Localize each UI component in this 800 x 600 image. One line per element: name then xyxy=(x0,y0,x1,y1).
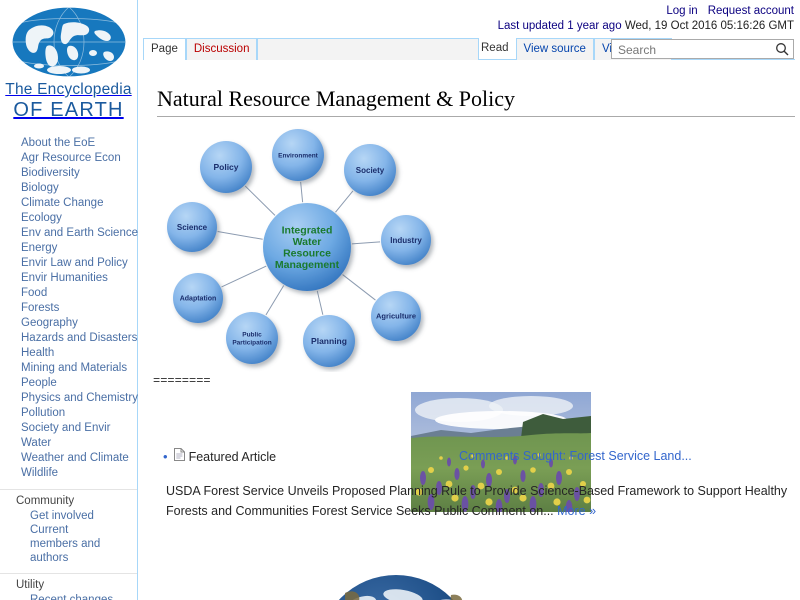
featured-article-description: USDA Forest Service Unveils Proposed Pla… xyxy=(166,481,797,521)
sidebar-item-get-involved[interactable]: Get involved xyxy=(0,509,137,523)
sidebar-topic-list: About the EoEAgr Resource EconBiodiversi… xyxy=(0,136,137,481)
sidebar-nav: About the EoEAgr Resource EconBiodiversi… xyxy=(0,136,137,600)
earth-globe-photo xyxy=(301,575,491,600)
search-icon[interactable] xyxy=(774,42,790,57)
diagram-node-label: Planning xyxy=(311,336,347,346)
diagram-node-environment: Environment xyxy=(272,129,324,181)
sidebar-community-items: Get involvedCurrent members and authors xyxy=(0,509,137,565)
request-account-link[interactable]: Request account xyxy=(708,5,794,17)
last-updated-link[interactable]: Last updated 1 year ago xyxy=(498,20,622,32)
diagram-node-label: Environment xyxy=(278,152,319,159)
tab-page[interactable]: Page xyxy=(143,38,186,60)
featured-article-link[interactable]: Comments Sought: Forest Service Land... xyxy=(459,448,692,464)
sidebar-item-weather-and-climate[interactable]: Weather and Climate xyxy=(0,451,137,466)
diagram-node-label: Agriculture xyxy=(376,312,416,321)
diagram-node-label: Adaptation xyxy=(180,296,217,303)
sidebar-item-people[interactable]: People xyxy=(0,376,137,391)
sidebar-item-biology[interactable]: Biology xyxy=(0,181,137,196)
diagram-edge xyxy=(317,291,323,315)
diagram-center-label: Resource xyxy=(283,248,331,260)
left-panel: The Encyclopedia OF EARTH About the EoEA… xyxy=(0,0,138,600)
diagram-node-society: Society xyxy=(344,144,396,196)
diagram-edge xyxy=(218,231,263,239)
document-icon xyxy=(174,448,185,465)
wiki-page: The Encyclopedia OF EARTH About the EoEA… xyxy=(0,0,800,600)
sidebar-item-wildlife[interactable]: Wildlife xyxy=(0,466,137,481)
sidebar-item-physics-and-chemistry[interactable]: Physics and Chemistry xyxy=(0,391,137,406)
diagram-center-label: Integrated xyxy=(282,225,333,237)
login-link[interactable]: Log in xyxy=(666,5,697,17)
sidebar-section-utility: Utility Recent changesHelp xyxy=(0,573,137,600)
diagram-edge xyxy=(352,242,380,244)
list-bullet: • xyxy=(163,449,168,465)
tab-read[interactable]: Read xyxy=(474,38,516,60)
diagram-node-label: Science xyxy=(177,223,208,232)
site-logo[interactable]: The Encyclopedia OF EARTH xyxy=(0,2,137,120)
diagram-node-industry: Industry xyxy=(381,215,431,265)
search-box[interactable] xyxy=(611,39,794,59)
diagram-node-adaptation: Adaptation xyxy=(173,273,223,323)
sidebar-item-envir-humanities[interactable]: Envir Humanities xyxy=(0,271,137,286)
tab-view-source[interactable]: View source xyxy=(516,38,594,60)
personal-tools-bar: Log inRequest account Last updated 1 yea… xyxy=(498,4,794,33)
sidebar-item-food[interactable]: Food xyxy=(0,286,137,301)
diagram-node-policy: Policy xyxy=(200,141,252,193)
sidebar-item-recent-changes[interactable]: Recent changes xyxy=(0,593,137,600)
sidebar-item-energy[interactable]: Energy xyxy=(0,241,137,256)
diagram-edge xyxy=(222,266,267,287)
page-title: Natural Resource Management & Policy xyxy=(157,86,795,117)
logo-line-2: OF EARTH xyxy=(0,99,137,122)
diagram-edge xyxy=(266,286,284,315)
last-modified-line: Last updated 1 year ago Wed, 19 Oct 2016… xyxy=(498,19,794,33)
diagram-node-label: Public xyxy=(242,331,262,338)
iwrm-diagram: PolicyEnvironmentSocietyIndustryAgricult… xyxy=(157,127,457,372)
tab-spacer xyxy=(257,38,479,60)
sidebar-item-biodiversity[interactable]: Biodiversity xyxy=(0,166,137,181)
separator-equals: ======== xyxy=(153,374,798,388)
diagram-center-label: Management xyxy=(275,259,340,271)
namespace-tabs: PageDiscussion xyxy=(143,38,479,60)
logo-line-1: The Encyclopedia xyxy=(0,81,137,99)
sidebar-item-mining-and-materials[interactable]: Mining and Materials xyxy=(0,361,137,376)
search-input[interactable] xyxy=(616,42,766,57)
diagram-node-label: Participation xyxy=(232,339,271,346)
sidebar-utility-items: Recent changesHelp xyxy=(0,593,137,600)
diagram-center-node: IntegratedWaterResourceManagement xyxy=(263,203,351,291)
diagram-edge xyxy=(335,191,352,212)
sidebar-item-env-and-earth-science[interactable]: Env and Earth Science xyxy=(0,226,137,241)
sidebar-item-society-and-envir[interactable]: Society and Envir xyxy=(0,421,137,436)
featured-article-row: • Featured Article Comments Sought: Fore… xyxy=(153,448,798,465)
sidebar-item-hazards-and-disasters[interactable]: Hazards and Disasters xyxy=(0,331,137,346)
diagram-node-label: Society xyxy=(356,166,385,175)
sidebar-item-agr-resource-econ[interactable]: Agr Resource Econ xyxy=(0,151,137,166)
sidebar-item-pollution[interactable]: Pollution xyxy=(0,406,137,421)
sidebar-section-title-utility: Utility xyxy=(0,578,137,593)
sidebar-section-community: Community Get involvedCurrent members an… xyxy=(0,489,137,565)
sidebar-item-envir-law-and-policy[interactable]: Envir Law and Policy xyxy=(0,256,137,271)
content-area: Natural Resource Management & Policy xyxy=(143,68,798,449)
more-link[interactable]: More » xyxy=(557,504,596,518)
sidebar-item-ecology[interactable]: Ecology xyxy=(0,211,137,226)
diagram-node-planning: Planning xyxy=(303,315,355,367)
diagram-node-label: Industry xyxy=(390,236,422,245)
tab-discussion[interactable]: Discussion xyxy=(186,38,258,60)
sidebar-item-about-the-eoe[interactable]: About the EoE xyxy=(0,136,137,151)
featured-description-text: USDA Forest Service Unveils Proposed Pla… xyxy=(166,484,787,518)
diagram-node-public-participation: PublicParticipation xyxy=(226,312,278,364)
sidebar-item-climate-change[interactable]: Climate Change xyxy=(0,196,137,211)
diagram-node-agriculture: Agriculture xyxy=(371,291,421,341)
diagram-node-label: Policy xyxy=(213,162,238,172)
sidebar-item-geography[interactable]: Geography xyxy=(0,316,137,331)
globe-icon xyxy=(9,4,129,80)
last-updated-date: Wed, 19 Oct 2016 05:16:26 GMT xyxy=(625,20,794,32)
diagram-node-science: Science xyxy=(167,202,217,252)
featured-article-label: Featured Article xyxy=(189,449,277,465)
sidebar-section-title-community: Community xyxy=(0,494,137,509)
diagram-edge xyxy=(245,186,275,215)
sidebar-item-current-members-and-authors[interactable]: Current members and authors xyxy=(0,523,110,565)
sidebar-item-health[interactable]: Health xyxy=(0,346,137,361)
sidebar-item-water[interactable]: Water xyxy=(0,436,137,451)
diagram-edge xyxy=(301,182,303,202)
featured-article-block: • Featured Article Comments Sought: Fore… xyxy=(153,392,798,449)
diagram-edge xyxy=(343,275,376,300)
diagram-center-label: Water xyxy=(293,236,322,248)
sidebar-item-forests[interactable]: Forests xyxy=(0,301,137,316)
